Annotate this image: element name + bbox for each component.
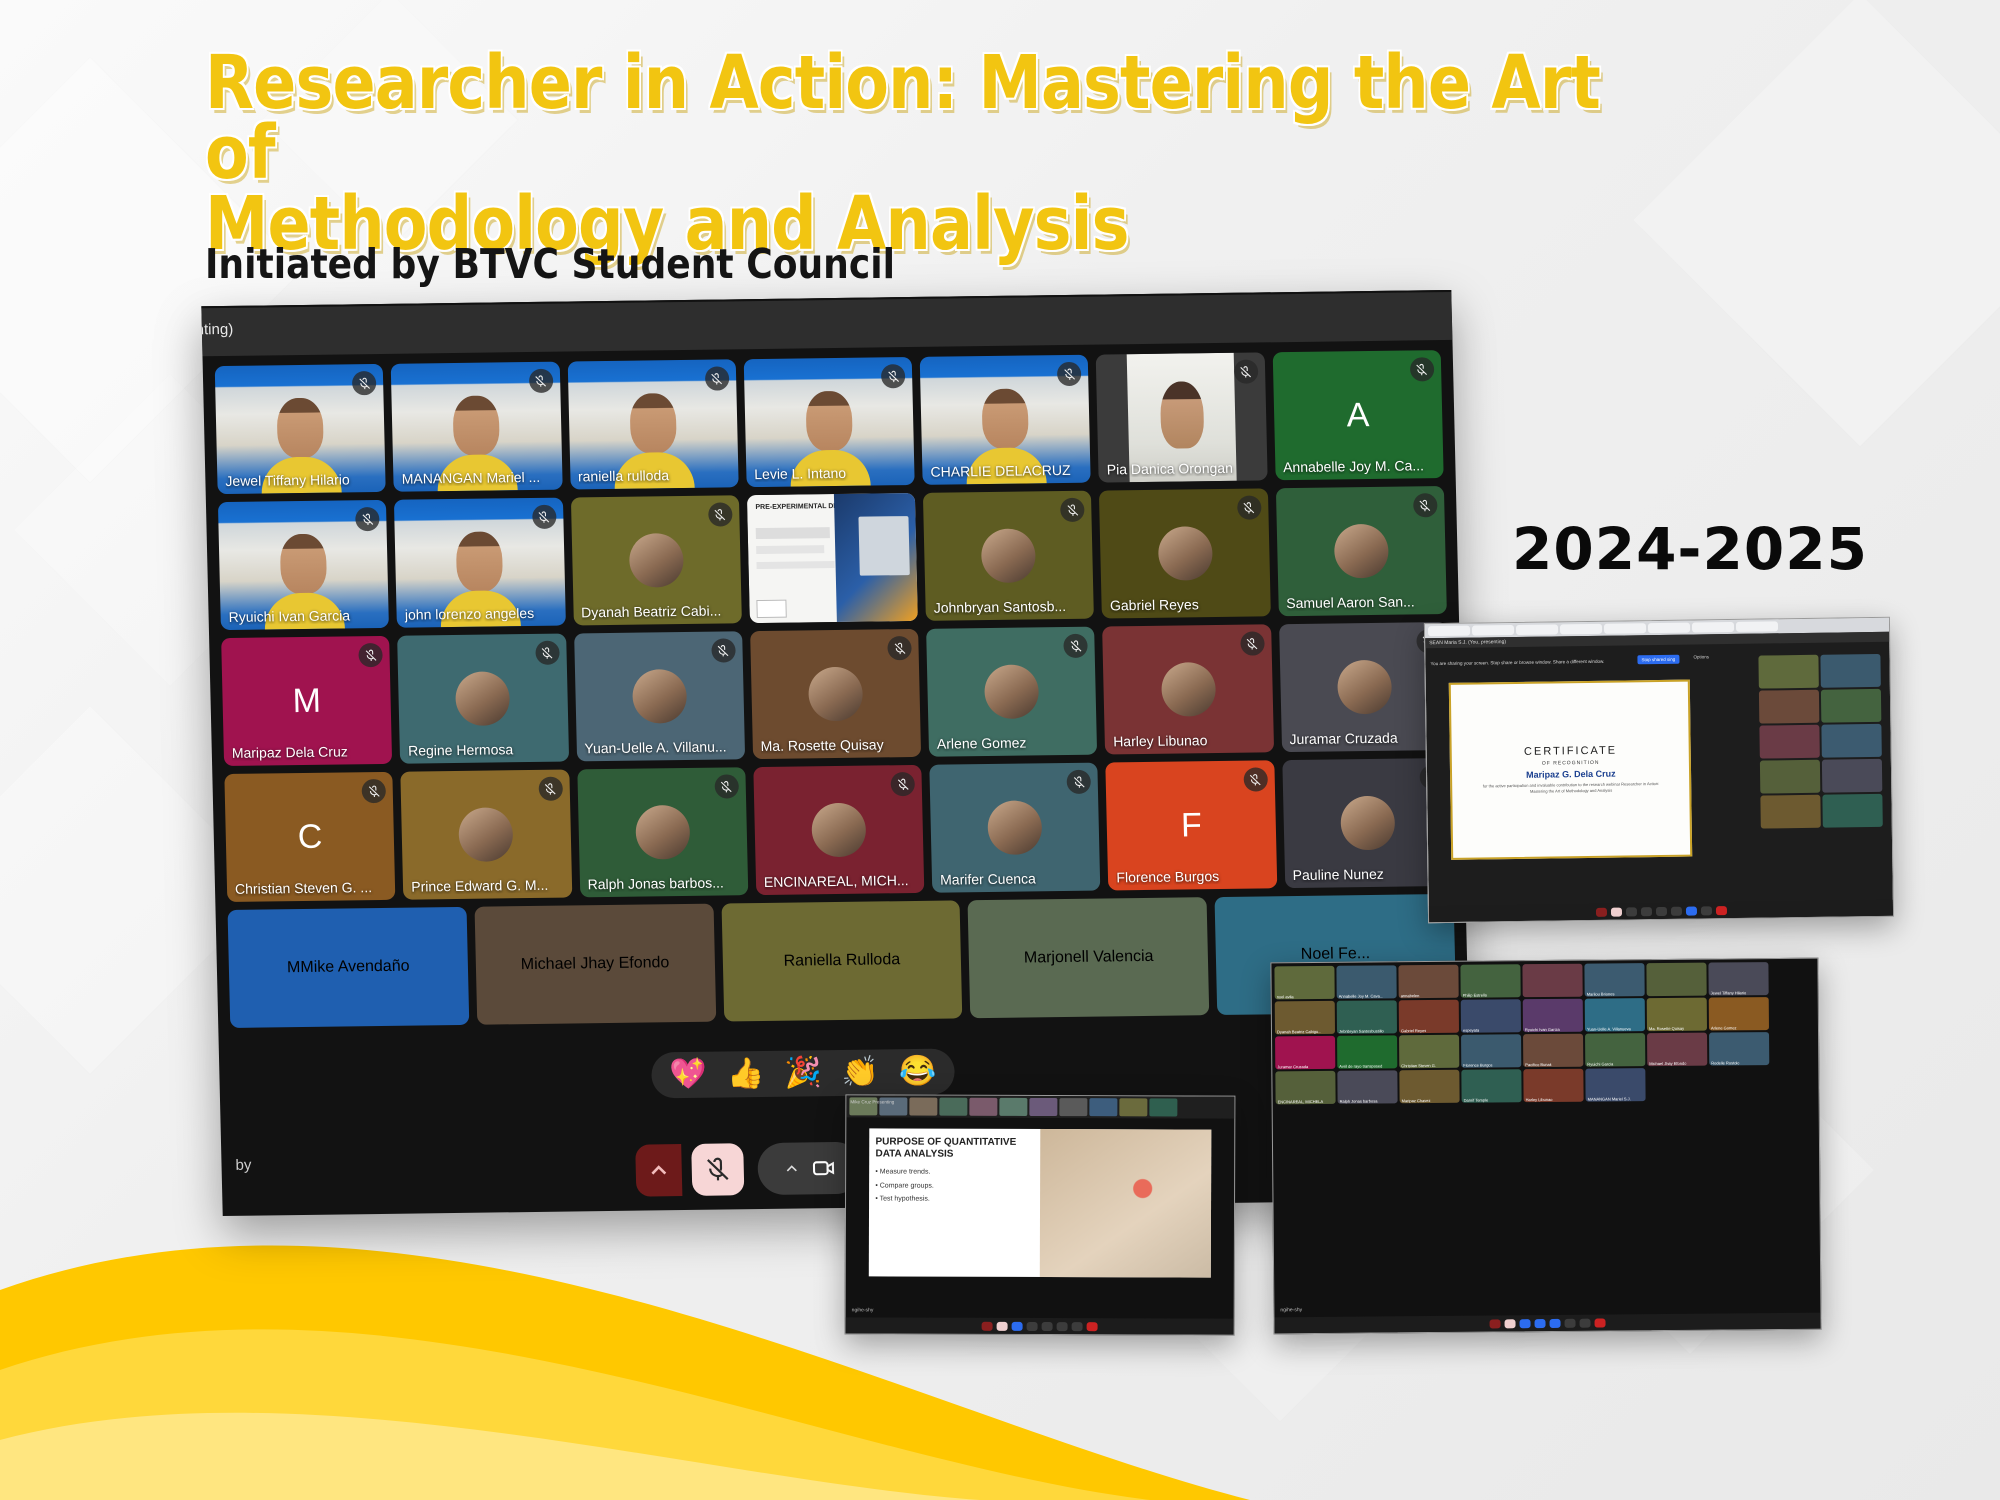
inset-participant-name: Philip Estrella	[1463, 993, 1487, 998]
inset-participant-name: Avril de rayo transposed	[1339, 1063, 1382, 1068]
participant-name: Arlene Gomez	[937, 734, 1090, 752]
inset-gallery-screenshot: noel avilaAnnabelle Joy M. Cava...annabe…	[1270, 958, 1821, 1335]
inset-participant-tile[interactable]: Ma. Rosette Quisay	[1647, 998, 1707, 1032]
inset-participant-tile[interactable]: Marilou Briones	[1584, 963, 1644, 997]
poster-subtitle: Initiated by BTVC Student Council	[205, 240, 895, 288]
mic-muted-icon	[1240, 631, 1265, 655]
inset-participant-name: Pacifico Bunak	[1525, 1062, 1552, 1067]
mic-muted-icon	[1057, 362, 1082, 386]
inset-participant-tile[interactable]: espeyata	[1461, 999, 1521, 1033]
inset-gallery-controls	[1274, 1313, 1820, 1334]
avatar	[1157, 526, 1212, 581]
participant-name: Regine Hermosa	[408, 741, 561, 759]
inset-slide-footer-label: ngihe-shy	[852, 1307, 874, 1313]
participant-tile[interactable]: Ma. Rosette Quisay	[750, 629, 921, 759]
avatar-initial: M	[287, 959, 301, 977]
inset-participant-tile[interactable]	[1646, 963, 1706, 997]
slide-bullet: • Compare groups.	[875, 1179, 1034, 1193]
mic-muted-icon	[891, 772, 916, 796]
inset-slide-controls	[846, 1317, 1234, 1334]
avatar	[1334, 524, 1389, 579]
share-options-button[interactable]: Options	[1693, 654, 1709, 659]
inset-participant-name: Juramar Cruzada	[1277, 1064, 1308, 1069]
avatar	[459, 807, 514, 862]
inset-participant-name: Rodelle Rustolo	[1711, 1060, 1739, 1065]
mic-muted-icon	[708, 502, 733, 526]
participant-name: Juramar Cruzada	[1289, 729, 1442, 747]
avatar	[628, 533, 683, 588]
participant-name: Maripaz Dela Cruz	[232, 743, 385, 761]
mic-muted-icon	[532, 505, 557, 529]
inset-participant-tile[interactable]: Arlene Gomez	[1709, 997, 1769, 1031]
inset-participant-name: Florence Burgos	[1463, 1062, 1492, 1067]
participant-name: Johnbryan Santosb...	[934, 598, 1087, 616]
microphone-muted-button[interactable]	[691, 1143, 744, 1196]
participant-name: Christian Steven G. ...	[235, 879, 388, 897]
participant-grid: Jewel Tiffany Hilario MANANGAN Mariel ..…	[202, 340, 1465, 902]
inset-participant-name: Michael Jhay Efondo	[1649, 1061, 1686, 1066]
participant-name: CHARLIE DELACRUZ	[930, 462, 1083, 480]
mic-muted-icon	[352, 371, 377, 395]
webcam-figure	[456, 532, 503, 593]
slide-image	[1040, 1129, 1211, 1277]
certificate-title: CERTIFICATE	[1524, 745, 1617, 758]
mic-muted-icon	[887, 636, 912, 660]
inset-participant-name: Dyanah Beatriz Cabigu...	[1277, 1029, 1322, 1034]
mic-muted-icon	[1243, 767, 1268, 791]
participant-name: Marifer Cuenca	[940, 870, 1093, 888]
inset-participant-tile[interactable]: Yuan-Uelle A. Villanueva	[1585, 998, 1645, 1032]
participant-tile[interactable]: F Florence Burgos	[1106, 760, 1277, 890]
participant-tile[interactable]: MANANGAN Mariel ...	[391, 362, 562, 492]
inset-gallery-grid: noel avilaAnnabelle Joy M. Cava...annabe…	[1271, 959, 1818, 1108]
inset-filmstrip	[1758, 654, 1888, 829]
avatar	[984, 664, 1039, 719]
participant-tile[interactable]: Regine Hermosa	[397, 634, 568, 764]
screen-share-notice: You are sharing your screen. Stop share …	[1430, 656, 1764, 668]
sparkling-heart-reaction[interactable]: 💖	[669, 1060, 707, 1090]
participant-tile[interactable]: Gabriel Reyes	[1099, 488, 1270, 618]
stop-share-button[interactable]: Stop shared sing	[1637, 655, 1679, 665]
mic-muted-icon	[1413, 493, 1438, 517]
inset-participant-tile[interactable]: Ryuichi Ivan Garcia	[1523, 999, 1583, 1033]
participant-row: M Maripaz Dela Cruz Regine Hermosa Yuan-…	[221, 622, 1450, 766]
page-title: Researcher in Action: Mastering the Art …	[205, 48, 1667, 259]
participant-tile[interactable]: Samuel Aaron San...	[1276, 486, 1447, 616]
mic-muted-icon	[538, 777, 563, 801]
participant-tile[interactable]: ENCINAREAL, MICH...	[753, 765, 924, 895]
avatar	[981, 528, 1036, 583]
avatar	[632, 669, 687, 724]
slide-bullets: • Measure trends.• Compare groups.• Test…	[875, 1166, 1034, 1206]
mic-muted-icon	[714, 774, 739, 798]
avatar	[1161, 662, 1216, 717]
inset-participant-tile[interactable]: noel avila	[1274, 966, 1334, 1000]
inset-participant-name: Annabelle Joy M. Cava...	[1339, 993, 1384, 998]
avatar-initial: A	[1346, 396, 1370, 435]
mic-options-caret[interactable]	[635, 1144, 682, 1197]
inset-participant-name: Marilou Briones	[1587, 991, 1615, 996]
reaction-bar[interactable]: 💖👍🎉👏😂	[651, 1048, 955, 1098]
inset-slide-presenter-label: Mike Cruz Presenting	[850, 1099, 894, 1104]
participant-name: Dyanah Beatriz Cabi...	[581, 602, 734, 620]
inset-participant-name: Danrif Temple	[1464, 1098, 1489, 1103]
inset-participant-tile[interactable]: Ryuichi Garcia	[1585, 1033, 1645, 1067]
slide-bullet: • Test hypothesis.	[875, 1192, 1034, 1206]
participant-name: Harley Libunao	[1113, 731, 1266, 749]
participant-name: ENCINAREAL, MICH...	[764, 872, 917, 890]
inset-participant-name: Jebnbryan Santosbustillo	[1339, 1028, 1384, 1033]
inset-participant-tile[interactable]: MANANGAN Mariel S.J.	[1585, 1068, 1645, 1102]
inset-participant-tile[interactable]: Gabriel Reyes	[1399, 1000, 1459, 1034]
participant-tile[interactable]: Raniella Rulloda	[721, 900, 963, 1021]
inset-participant-name: Arlene Gomez	[1711, 1025, 1737, 1030]
participant-tile[interactable]: Marjonell Valencia	[968, 897, 1210, 1018]
participant-name: Michael Jhay Efondo	[521, 954, 670, 974]
inset-participant-name: Ma. Rosette Quisay	[1649, 1026, 1684, 1031]
avatar	[455, 671, 510, 726]
participant-tile[interactable]: Prince Edward G. M...	[401, 770, 572, 900]
inset-participant-tile[interactable]: Dyanah Beatriz Cabigu...	[1275, 1001, 1335, 1035]
participant-name: Pia Danica Orongan	[1107, 459, 1260, 477]
inset-participant-name: MANANGAN Mariel S.J.	[1588, 1096, 1631, 1101]
inset-participant-name: Maripaz Chavez	[1402, 1098, 1431, 1103]
mic-muted-icon	[528, 369, 553, 393]
inset-participant-tile[interactable]: Avril de rayo transposed	[1337, 1035, 1397, 1069]
participant-name: Samuel Aaron San...	[1286, 593, 1439, 611]
certificate-body: for the active participation and invalua…	[1476, 781, 1666, 796]
inset-participant-tile[interactable]: Michael Jhay Efondo	[1647, 1033, 1707, 1067]
participant-name: john lorenzo angeles	[405, 605, 558, 623]
camera-icon	[810, 1155, 837, 1181]
participant-name: Ralph Jonas barbos...	[587, 874, 740, 892]
inset-participant-tile[interactable]: Danrif Temple	[1461, 1069, 1521, 1103]
inset-participant-tile[interactable]	[1522, 964, 1582, 998]
participant-tile[interactable]: M Maripaz Dela Cruz	[221, 636, 392, 766]
inset-participant-name: Harley Libunao	[1526, 1097, 1553, 1102]
participant-tile[interactable]: Ryuichi Ivan Garcia	[218, 500, 389, 630]
webcam-figure	[629, 393, 676, 454]
inset-participant-name: Ryuichi Garcia	[1587, 1061, 1613, 1066]
thumbs-up-reaction[interactable]: 👍	[727, 1059, 765, 1089]
participant-tile[interactable]: A Annabelle Joy M. Ca...	[1272, 350, 1443, 480]
shared-screen: PRE-EXPERIMENTAL DESIGN	[747, 493, 918, 623]
school-year-label: 2024-2025	[1512, 515, 1868, 583]
avatar-initial: C	[297, 817, 322, 856]
inset-participant-tile[interactable]: Jebnbryan Santosbustillo	[1337, 1000, 1397, 1034]
inset-participant-name: Christian Steven G.	[1401, 1063, 1436, 1068]
mic-muted-icon	[711, 638, 736, 662]
mic-muted-icon	[705, 366, 730, 390]
participant-row: C Christian Steven G. ... Prince Edward …	[224, 758, 1453, 902]
participant-name: Annabelle Joy M. Ca...	[1283, 457, 1436, 475]
avatar	[987, 800, 1042, 855]
participant-name: raniella rulloda	[578, 466, 731, 484]
inset-certificate-screenshot: SEAN Maria S.J. (You, presenting) You ar…	[1424, 617, 1894, 923]
participant-tile[interactable]: M Mike Avendaño	[228, 907, 470, 1028]
participant-name: Mike Avendaño	[300, 958, 410, 977]
participant-name: Ryuichi Ivan Garcia	[228, 607, 381, 625]
participant-tile[interactable]: Arlene Gomez	[926, 627, 1097, 757]
participant-tile[interactable]: CHARLIE DELACRUZ	[920, 355, 1091, 485]
participant-tile[interactable]: Pia Danica Orongan	[1096, 352, 1267, 482]
avatar	[635, 805, 690, 860]
participant-tile[interactable]: raniella rulloda	[567, 359, 738, 489]
participant-tile[interactable]: Johnbryan Santosb...	[923, 491, 1094, 621]
mic-muted-icon	[1067, 770, 1092, 794]
participant-tile[interactable]: john lorenzo angeles	[394, 498, 565, 628]
participant-name: Florence Burgos	[1116, 867, 1269, 885]
webcam-figure	[453, 396, 500, 457]
participant-name: Jewel Tiffany Hilario	[225, 471, 378, 489]
avatar-initial: M	[292, 681, 321, 720]
mic-muted-icon	[535, 641, 560, 665]
inset-participant-tile[interactable]: Rodelle Rustolo	[1709, 1032, 1769, 1066]
joy-reaction[interactable]: 😂	[899, 1057, 937, 1087]
mic-muted-icon	[355, 507, 380, 531]
inset-participant-tile[interactable]: Juramar Cruzada	[1275, 1036, 1335, 1070]
avatar	[808, 667, 863, 722]
presenter-status-text: senting)	[201, 321, 233, 339]
participant-name: Ma. Rosette Quisay	[760, 736, 913, 754]
participant-name: Prince Edward G. M...	[411, 877, 564, 895]
avatar	[1340, 796, 1395, 851]
inset-participant-name: annabelen	[1401, 993, 1420, 998]
inset-participant-tile[interactable]: Annabelle Joy M. Cava...	[1336, 965, 1396, 999]
avatar	[1337, 660, 1392, 715]
inset-participant-tile[interactable]: Harley Libunao	[1523, 1069, 1583, 1103]
inset-gallery-footer-label: ngihe-shy	[1280, 1307, 1302, 1313]
mic-muted-icon	[362, 779, 387, 803]
inset-participant-tile[interactable]: Florence Burgos	[1461, 1034, 1521, 1068]
inset-participant-name: Ryuichi Ivan Garcia	[1525, 1027, 1560, 1032]
presentation-slide: PURPOSE OF QUANTITATIVE DATA ANALYSIS • …	[869, 1129, 1211, 1278]
mic-muted-icon	[1060, 498, 1085, 522]
participant-tile[interactable]: Yuan-Uelle A. Villanu...	[574, 631, 745, 761]
inset-participant-name: Gabriel Reyes	[1401, 1028, 1426, 1033]
inset-participant-tile[interactable]: Jewel Tiffany Hilario	[1708, 962, 1768, 996]
mic-muted-icon	[1064, 634, 1089, 658]
participant-name: Yuan-Uelle A. Villanu...	[584, 738, 737, 756]
participant-name: Marjonell Valencia	[1024, 948, 1154, 968]
slide-title: PURPOSE OF QUANTITATIVE DATA ANALYSIS	[875, 1137, 1034, 1162]
participant-tile[interactable]: Michael Jhay Efondo	[474, 904, 716, 1025]
participant-row: Ryuichi Ivan Garcia john lorenzo angeles…	[218, 486, 1447, 630]
inset-participant-name: espeyata	[1463, 1028, 1479, 1033]
webcam-figure	[982, 389, 1029, 450]
inset-participant-tile[interactable]: Maripaz Chavez	[1399, 1070, 1459, 1104]
mic-muted-icon	[1234, 359, 1259, 383]
participant-tile[interactable]: Levie L. Intano	[744, 357, 915, 487]
participant-name: Levie L. Intano	[754, 464, 907, 482]
webcam-figure	[277, 398, 324, 459]
inset-participant-tile[interactable]: ENCINAREAL, MICHELA	[1275, 1071, 1335, 1105]
participant-tile[interactable]: Jewel Tiffany Hilario	[215, 364, 386, 494]
inset-participant-tile[interactable]: Christian Steven G.	[1399, 1035, 1459, 1069]
inset-slide-screenshot: Mike Cruz Presenting PURPOSE OF QUANTITA…	[845, 1094, 1236, 1335]
mic-muted-icon	[359, 643, 384, 667]
inset-participant-name: noel avila	[1277, 994, 1294, 999]
participant-name: Pauline Nunez	[1293, 865, 1446, 883]
participant-tile[interactable]: Dyanah Beatriz Cabi...	[570, 495, 741, 625]
inset-participant-name: Ralph Jonas barbosa	[1340, 1098, 1378, 1103]
participant-name: Raniella Rulloda	[783, 951, 900, 971]
participant-tile[interactable]: Harley Libunao	[1103, 624, 1274, 754]
participant-name: Gabriel Reyes	[1110, 595, 1263, 613]
participant-tile[interactable]: Ralph Jonas barbos...	[577, 767, 748, 897]
inset-participant-tile[interactable]: Pacifico Bunak	[1523, 1034, 1583, 1068]
inset-participant-name: ENCINAREAL, MICHELA	[1278, 1099, 1324, 1104]
webcam-figure	[280, 534, 327, 595]
certificate-recipient: Maripaz G. Dela Cruz	[1526, 769, 1616, 780]
slide-bullet: • Measure trends.	[875, 1166, 1034, 1180]
avatar-initial: F	[1181, 806, 1203, 845]
mic-muted-icon	[1410, 357, 1435, 381]
participant-tile[interactable]: PRE-EXPERIMENTAL DESIGN	[747, 493, 918, 623]
participant-row: Jewel Tiffany Hilario MANANGAN Mariel ..…	[215, 350, 1444, 494]
inset-participant-name: Yuan-Uelle A. Villanueva	[1587, 1026, 1631, 1031]
avatar	[811, 803, 866, 858]
clapping-hands-reaction[interactable]: 👏	[841, 1057, 879, 1087]
inset-participant-tile[interactable]: Philip Estrella	[1460, 964, 1520, 998]
participant-tile[interactable]: C Christian Steven G. ...	[224, 772, 395, 902]
inset-participant-tile[interactable]: annabelen	[1398, 965, 1458, 999]
certificate-subtitle: OF RECOGNITION	[1542, 760, 1600, 767]
participant-name: MANANGAN Mariel ...	[402, 469, 555, 487]
participant-tile[interactable]: Marifer Cuenca	[929, 763, 1100, 893]
webcam-figure	[805, 391, 852, 452]
mic-muted-icon	[1237, 495, 1262, 519]
party-popper-reaction[interactable]: 🎉	[784, 1058, 822, 1088]
inset-participant-tile[interactable]: Ralph Jonas barbosa	[1337, 1070, 1397, 1104]
inset-slide-filmstrip	[846, 1095, 1234, 1118]
inset-participant-name: Jewel Tiffany Hilario	[1711, 990, 1747, 995]
mic-muted-icon	[881, 364, 906, 388]
certificate-document: CERTIFICATE OF RECOGNITION Maripaz G. De…	[1449, 680, 1693, 859]
